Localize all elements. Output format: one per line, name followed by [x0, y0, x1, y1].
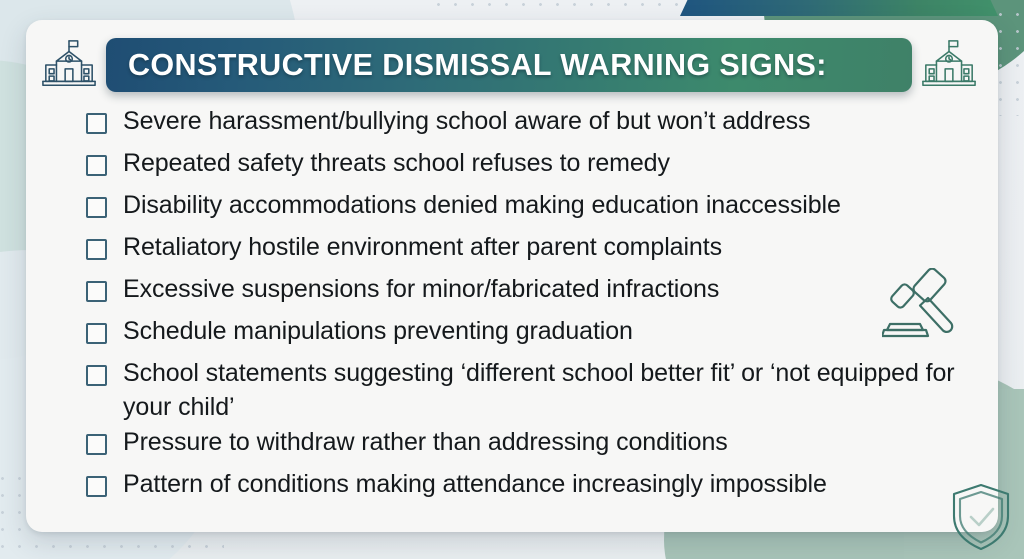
- list-item-label: Excessive suspensions for minor/fabricat…: [123, 273, 719, 307]
- checkbox-unchecked[interactable]: [86, 197, 107, 218]
- list-item[interactable]: Schedule manipulations preventing gradua…: [86, 315, 980, 355]
- checkbox-unchecked[interactable]: [86, 365, 107, 386]
- warning-signs-card: CONSTRUCTIVE DISMISSAL WARNING SIGNS:: [26, 20, 998, 532]
- checkbox-unchecked[interactable]: [86, 155, 107, 176]
- shield-check-icon: [950, 482, 1012, 552]
- list-item[interactable]: Severe harassment/bullying school aware …: [86, 105, 980, 145]
- list-item-label: Repeated safety threats school refuses t…: [123, 147, 670, 181]
- list-item[interactable]: Pattern of conditions making attendance …: [86, 468, 980, 508]
- gavel-icon: [882, 268, 966, 344]
- page-title: CONSTRUCTIVE DISMISSAL WARNING SIGNS:: [128, 48, 827, 83]
- checkbox-unchecked[interactable]: [86, 323, 107, 344]
- checkbox-unchecked[interactable]: [86, 281, 107, 302]
- school-building-icon: [920, 37, 978, 93]
- list-item-label: School statements suggesting ‘different …: [123, 357, 980, 424]
- title-banner: CONSTRUCTIVE DISMISSAL WARNING SIGNS:: [106, 38, 912, 92]
- list-item-label: Schedule manipulations preventing gradua…: [123, 315, 633, 349]
- list-item[interactable]: Pressure to withdraw rather than address…: [86, 426, 980, 466]
- list-item-label: Pressure to withdraw rather than address…: [123, 426, 728, 460]
- list-item-label: Disability accommodations denied making …: [123, 189, 841, 223]
- list-item-label: Severe harassment/bullying school aware …: [123, 105, 810, 139]
- warning-signs-checklist: Severe harassment/bullying school aware …: [26, 93, 998, 508]
- checkbox-unchecked[interactable]: [86, 113, 107, 134]
- list-item-label: Retaliatory hostile environment after pa…: [123, 231, 722, 265]
- list-item-label: Pattern of conditions making attendance …: [123, 468, 827, 502]
- list-item[interactable]: Repeated safety threats school refuses t…: [86, 147, 980, 187]
- header-accent-band: [680, 0, 998, 16]
- list-item[interactable]: Disability accommodations denied making …: [86, 189, 980, 229]
- list-item[interactable]: Retaliatory hostile environment after pa…: [86, 231, 980, 271]
- list-item[interactable]: Excessive suspensions for minor/fabricat…: [86, 273, 980, 313]
- card-header: CONSTRUCTIVE DISMISSAL WARNING SIGNS:: [26, 20, 998, 93]
- school-building-icon: [40, 37, 98, 93]
- checkbox-unchecked[interactable]: [86, 434, 107, 455]
- list-item[interactable]: School statements suggesting ‘different …: [86, 357, 980, 424]
- infographic-canvas: CONSTRUCTIVE DISMISSAL WARNING SIGNS:: [0, 0, 1024, 559]
- checkbox-unchecked[interactable]: [86, 476, 107, 497]
- checkbox-unchecked[interactable]: [86, 239, 107, 260]
